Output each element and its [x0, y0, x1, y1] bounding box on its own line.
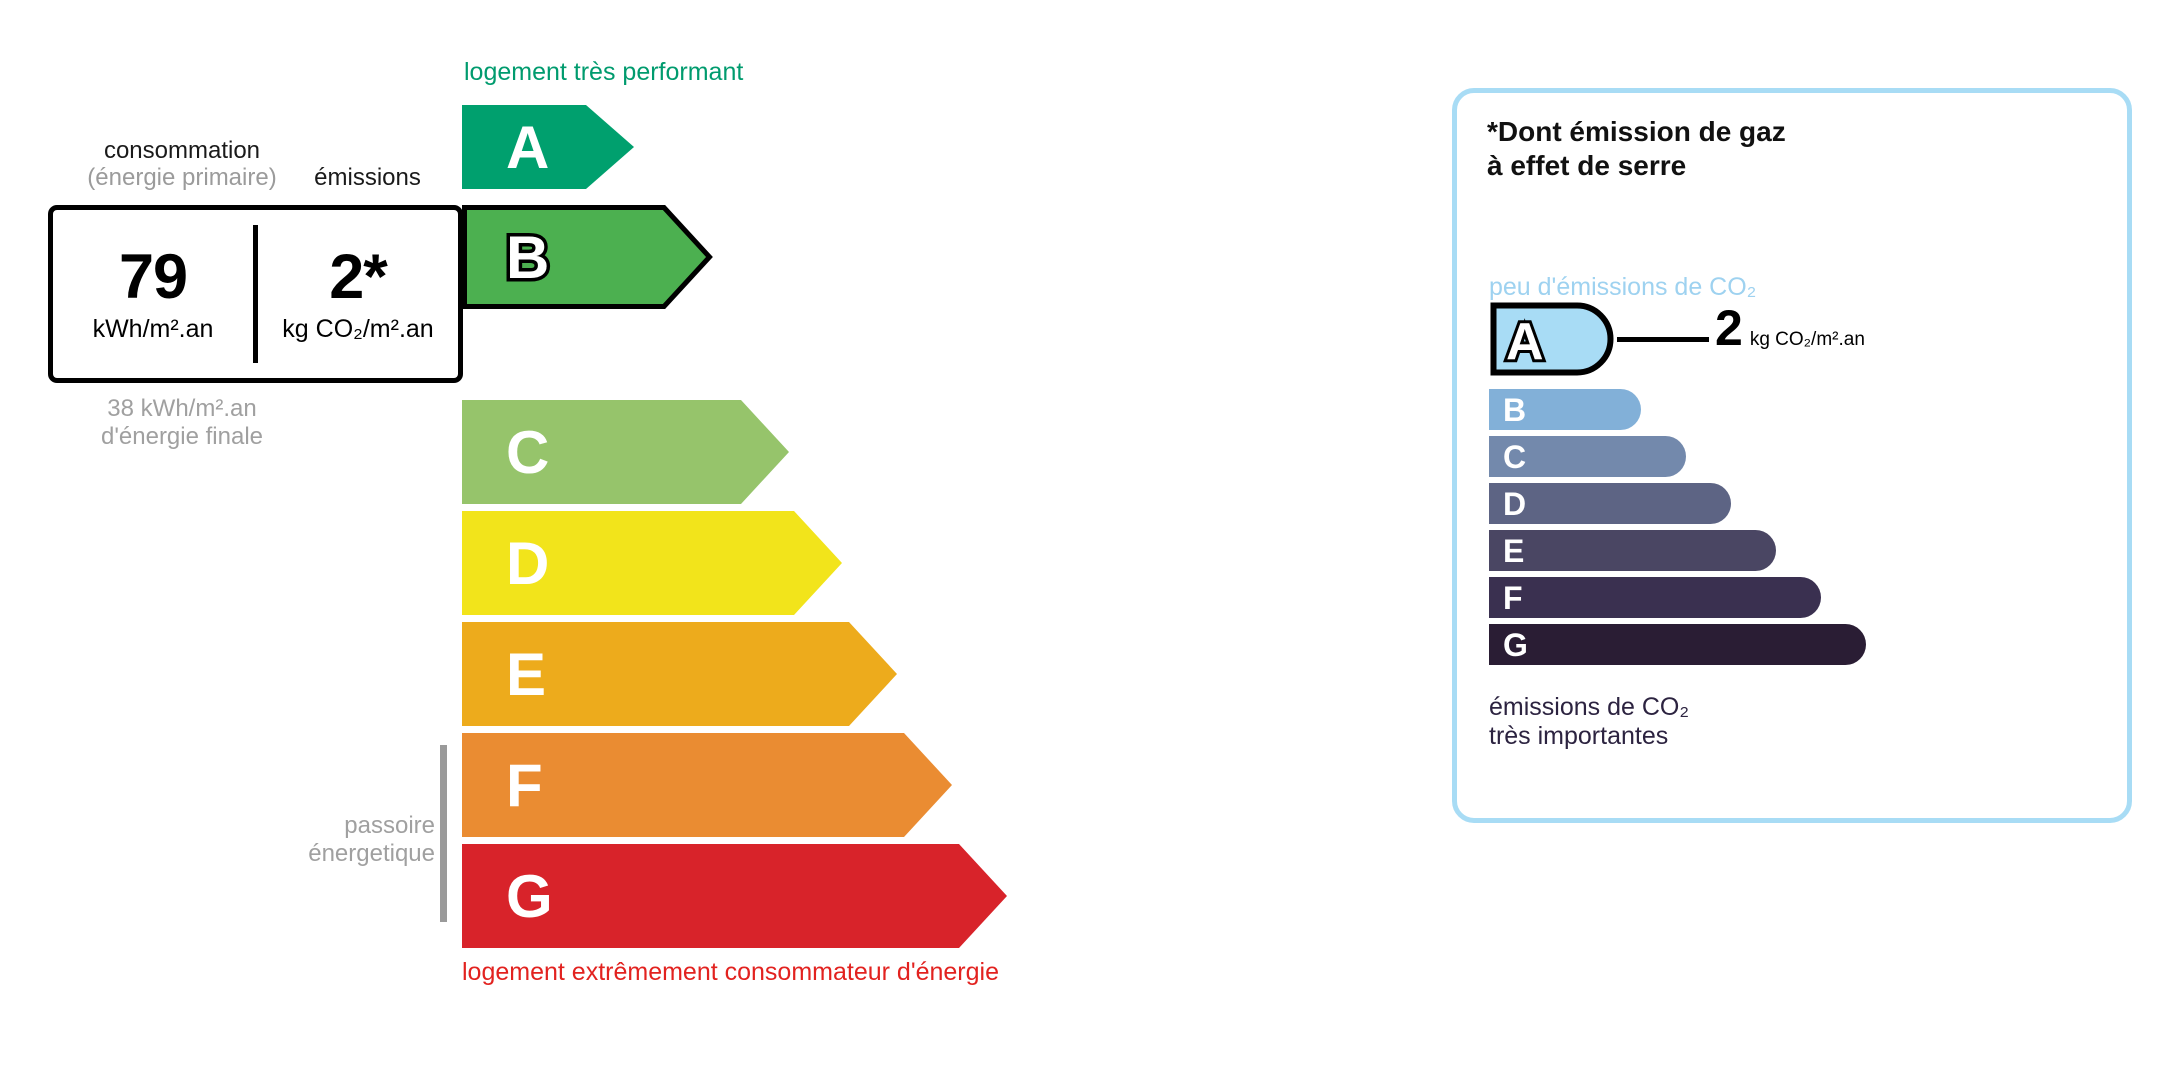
co2-bar-letter-f: F: [1503, 582, 1523, 614]
co2-title-line1: *Dont émission de gaz: [1487, 115, 1786, 149]
value-box: 79 kWh/m².an 2* kg CO₂/m².an: [48, 205, 463, 383]
co2-bar-b: B: [1489, 389, 1641, 430]
co2-bar-letter-b: B: [1503, 394, 1526, 426]
co2-value: 2: [1715, 303, 1743, 353]
energy-bar-f: F: [462, 733, 954, 839]
energy-bar-shape-d: [462, 511, 844, 617]
co2-bar-letter-c: C: [1503, 441, 1526, 473]
co2-class-a-letter: A: [1506, 316, 1544, 368]
co2-top-caption: peu d'émissions de CO₂: [1489, 273, 1756, 302]
co2-class-a-row: A: [1489, 301, 1617, 377]
co2-bar-d: D: [1489, 483, 1731, 524]
energy-bar-g: G: [462, 844, 1009, 950]
energy-bar-e: E: [462, 622, 899, 728]
consumption-unit: kWh/m².an: [93, 315, 214, 344]
emissions-value-cell: 2* kg CO₂/m².an: [258, 210, 458, 378]
energy-bar-shape-c: [462, 400, 791, 506]
co2-bar-letter-e: E: [1503, 535, 1524, 567]
consumption-value-cell: 79 kWh/m².an: [53, 210, 253, 378]
co2-bar-c: C: [1489, 436, 1686, 477]
bottom-caption-consommateur: logement extrêmement consommateur d'éner…: [462, 958, 999, 987]
consumption-value: 79: [119, 248, 187, 308]
energy-bar-c: C: [462, 400, 791, 506]
energy-bar-shape-g: [462, 844, 1009, 950]
co2-footer-caption: émissions de CO₂ très importantes: [1489, 693, 1689, 751]
co2-panel-title: *Dont émission de gaz à effet de serre: [1487, 115, 1786, 182]
energy-bar-shape-b: [462, 205, 714, 311]
co2-bar-letter-g: G: [1503, 629, 1528, 661]
co2-class-a-badge: A: [1489, 301, 1617, 382]
co2-bar-e: E: [1489, 530, 1776, 571]
emissions-unit: kg CO₂/m².an: [282, 315, 433, 344]
energy-bar-b: B: [462, 205, 714, 311]
co2-panel: *Dont émission de gaz à effet de serre p…: [1452, 88, 2132, 823]
dpe-energy-scale: logement très performant consommation (é…: [0, 0, 1360, 1079]
co2-bar-g: G: [1489, 624, 1866, 665]
emissions-value: 2*: [329, 248, 387, 308]
co2-unit: kg CO₂/m².an: [1750, 329, 1865, 351]
co2-title-line2: à effet de serre: [1487, 149, 1786, 183]
co2-leader-line: [1617, 337, 1709, 342]
co2-bar-f: F: [1489, 577, 1821, 618]
co2-bar-letter-d: D: [1503, 488, 1526, 520]
energy-bar-shape-f: [462, 733, 954, 839]
energy-bar-shape-e: [462, 622, 899, 728]
co2-footer-line2: très importantes: [1489, 722, 1689, 751]
co2-value-group: 2 kg CO₂/m².an: [1715, 303, 1865, 353]
co2-footer-line1: émissions de CO₂: [1489, 693, 1689, 722]
energy-class-bars: ABCDEFG: [0, 0, 1360, 1000]
energy-bar-d: D: [462, 511, 844, 617]
energy-bar-shape-a: [462, 105, 636, 191]
energy-bar-a: A: [462, 105, 636, 191]
